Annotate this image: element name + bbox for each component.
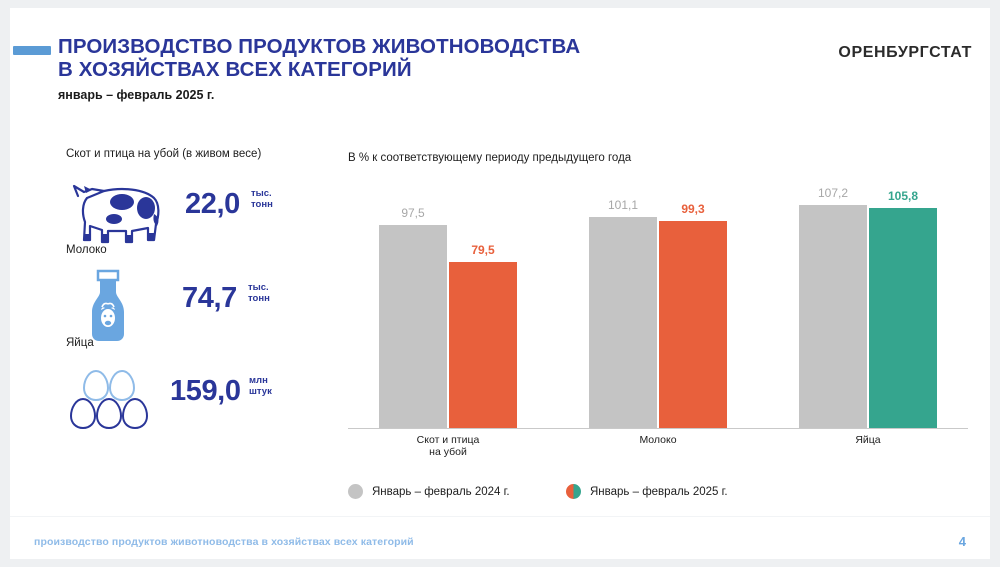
slide: ПРОИЗВОДСТВО ПРОДУКТОВ ЖИВОТНОВОДСТВА В … (10, 8, 990, 559)
chart-bar-value-label: 107,2 (799, 186, 867, 200)
stat-value: 22,0 (185, 188, 240, 221)
bar-group: 101,199,3 (589, 178, 727, 428)
stat-unit-line2: тонн (251, 199, 273, 210)
chart-category-label-line: Молоко (568, 434, 748, 446)
chart-bar-value-label: 79,5 (449, 243, 517, 257)
page-title: ПРОИЗВОДСТВО ПРОДУКТОВ ЖИВОТНОВОДСТВА В … (58, 35, 708, 81)
chart-bar-rect (449, 262, 517, 428)
stats-heading: Скот и птица на убой (в живом весе) (66, 148, 261, 160)
legend-circle-icon (348, 484, 363, 499)
eggs-icon (62, 359, 172, 439)
page-title-line1: ПРОИЗВОДСТВО ПРОДУКТОВ ЖИВОТНОВОДСТВА (58, 35, 580, 58)
legend-split-circle-icon (566, 484, 581, 499)
chart-bar-rect (869, 208, 937, 428)
chart-bar-rect (589, 217, 657, 428)
chart-category-label: Яйца (778, 434, 958, 446)
chart-bar-rect (659, 221, 727, 428)
stat-unit-line2: тонн (248, 293, 270, 304)
stat-unit: тыс. тонн (251, 188, 273, 210)
chart-baseline-axis (348, 428, 968, 429)
bar-group: 97,579,5 (379, 178, 517, 428)
footer-text: производство продуктов животноводства в … (34, 536, 414, 548)
stat-label-eggs: Яйца (66, 337, 94, 349)
chart-bar-value-label: 101,1 (589, 198, 657, 212)
chart-bar-value-label: 97,5 (379, 206, 447, 220)
legend-item-label: Январь – февраль 2024 г. (372, 486, 510, 498)
legend-item[interactable]: Январь – февраль 2024 г. (348, 484, 510, 499)
stat-row: Молоко (10, 260, 310, 355)
bar-chart: В % к соответствующему периоду предыдуще… (340, 138, 980, 458)
stat-unit-line1: млн (249, 375, 272, 386)
chart-bar-value-label: 105,8 (869, 189, 937, 203)
stat-label-milk: Молоко (66, 244, 107, 256)
bar-group: 107,2105,8 (799, 178, 937, 428)
stat-row: 22,0 тыс. тонн (10, 168, 310, 263)
slide-header: ПРОИЗВОДСТВО ПРОДУКТОВ ЖИВОТНОВОДСТВА В … (10, 8, 990, 118)
stats-panel: Скот и птица на убой (в живом весе) (10, 138, 310, 448)
chart-bar-rect (379, 225, 447, 428)
footer-page-number: 4 (959, 534, 966, 549)
chart-caption: В % к соответствующему периоду предыдуще… (348, 152, 631, 164)
stat-unit: тыс. тонн (248, 282, 270, 304)
legend-item[interactable]: Январь – февраль 2025 г. (566, 484, 728, 499)
page-subtitle: январь – февраль 2025 г. (58, 88, 214, 102)
stat-unit-line1: тыс. (248, 282, 270, 293)
legend-item-label: Январь – февраль 2025 г. (590, 486, 728, 498)
stat-row: Яйца 159,0 млн штук (10, 353, 310, 448)
stat-value: 74,7 (182, 282, 237, 315)
stat-unit-line2: штук (249, 386, 272, 397)
chart-category-label-line: Яйца (778, 434, 958, 446)
chart-category-label-line: на убой (358, 446, 538, 458)
brand-logo: ОРЕНБУРГСТАТ (838, 44, 972, 62)
stat-unit: млн штук (249, 375, 272, 397)
page-title-line2: В ХОЗЯЙСТВАХ ВСЕХ КАТЕГОРИЙ (58, 58, 708, 81)
stat-value: 159,0 (170, 375, 241, 408)
chart-category-label-line: Скот и птица (358, 434, 538, 446)
milk-bottle-icon (62, 266, 172, 346)
cow-icon (62, 174, 172, 254)
chart-bar-rect (799, 205, 867, 428)
chart-category-label: Скот и птицана убой (358, 434, 538, 458)
chart-category-label: Молоко (568, 434, 748, 446)
chart-bar-value-label: 99,3 (659, 202, 727, 216)
footer-divider (10, 516, 990, 517)
chart-plot-area: 97,579,5101,199,3107,2105,8 (348, 178, 968, 428)
accent-dash-icon (13, 46, 51, 55)
stat-unit-line1: тыс. (251, 188, 273, 199)
